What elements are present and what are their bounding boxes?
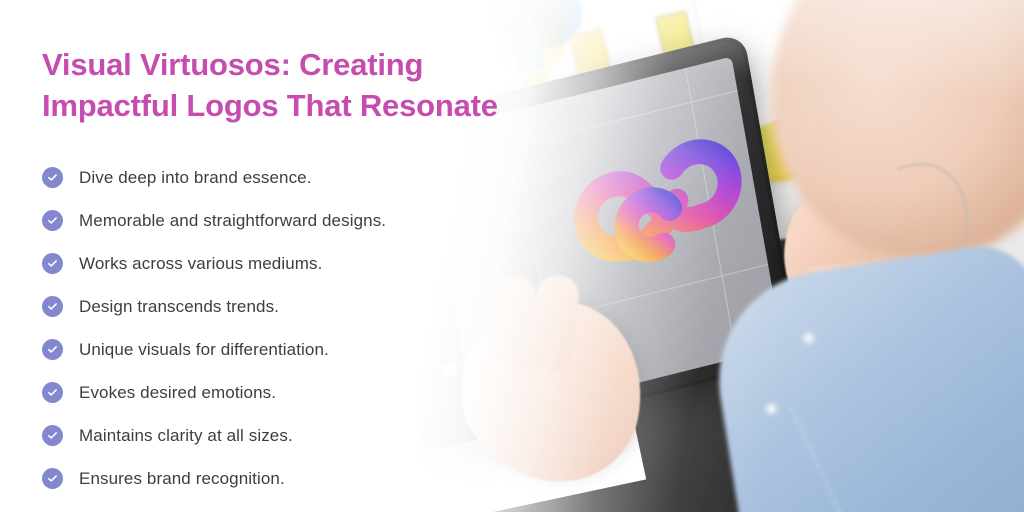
check-icon xyxy=(42,253,63,274)
list-item: Design transcends trends. xyxy=(42,285,560,328)
headline-line-1: Visual Virtuosos: Creating xyxy=(42,47,423,82)
list-item-label: Dive deep into brand essence. xyxy=(79,168,312,188)
check-icon xyxy=(42,210,63,231)
check-icon xyxy=(42,382,63,403)
shirt-button xyxy=(804,333,814,343)
check-icon xyxy=(42,167,63,188)
check-icon xyxy=(42,339,63,360)
page-title: Visual Virtuosos: Creating Impactful Log… xyxy=(42,44,552,126)
list-item-label: Evokes desired emotions. xyxy=(79,383,276,403)
list-item: Dive deep into brand essence. xyxy=(42,156,560,199)
list-item: Evokes desired emotions. xyxy=(42,371,560,414)
list-item: Ensures brand recognition. xyxy=(42,457,560,500)
list-item-label: Design transcends trends. xyxy=(79,297,279,317)
list-item-label: Works across various mediums. xyxy=(79,254,322,274)
list-item: Memorable and straightforward designs. xyxy=(42,199,560,242)
list-item-label: Ensures brand recognition. xyxy=(79,469,285,489)
list-item-label: Maintains clarity at all sizes. xyxy=(79,426,293,446)
check-icon xyxy=(42,296,63,317)
list-item: Unique visuals for differentiation. xyxy=(42,328,560,371)
list-item: Works across various mediums. xyxy=(42,242,560,285)
denim-seam xyxy=(790,356,972,512)
logo-artwork xyxy=(548,106,763,337)
banner: Visual Virtuosos: Creating Impactful Log… xyxy=(0,0,1024,512)
list-item-label: Memorable and straightforward designs. xyxy=(79,211,386,231)
list-item-label: Unique visuals for differentiation. xyxy=(79,340,329,360)
headline-line-2: Impactful Logos That Resonate xyxy=(42,85,552,126)
shirt-button xyxy=(766,404,776,414)
list-item: Maintains clarity at all sizes. xyxy=(42,414,560,457)
content-panel: Visual Virtuosos: Creating Impactful Log… xyxy=(0,0,560,512)
check-icon xyxy=(42,425,63,446)
benefits-list: Dive deep into brand essence. Memorable … xyxy=(42,156,560,500)
check-icon xyxy=(42,468,63,489)
